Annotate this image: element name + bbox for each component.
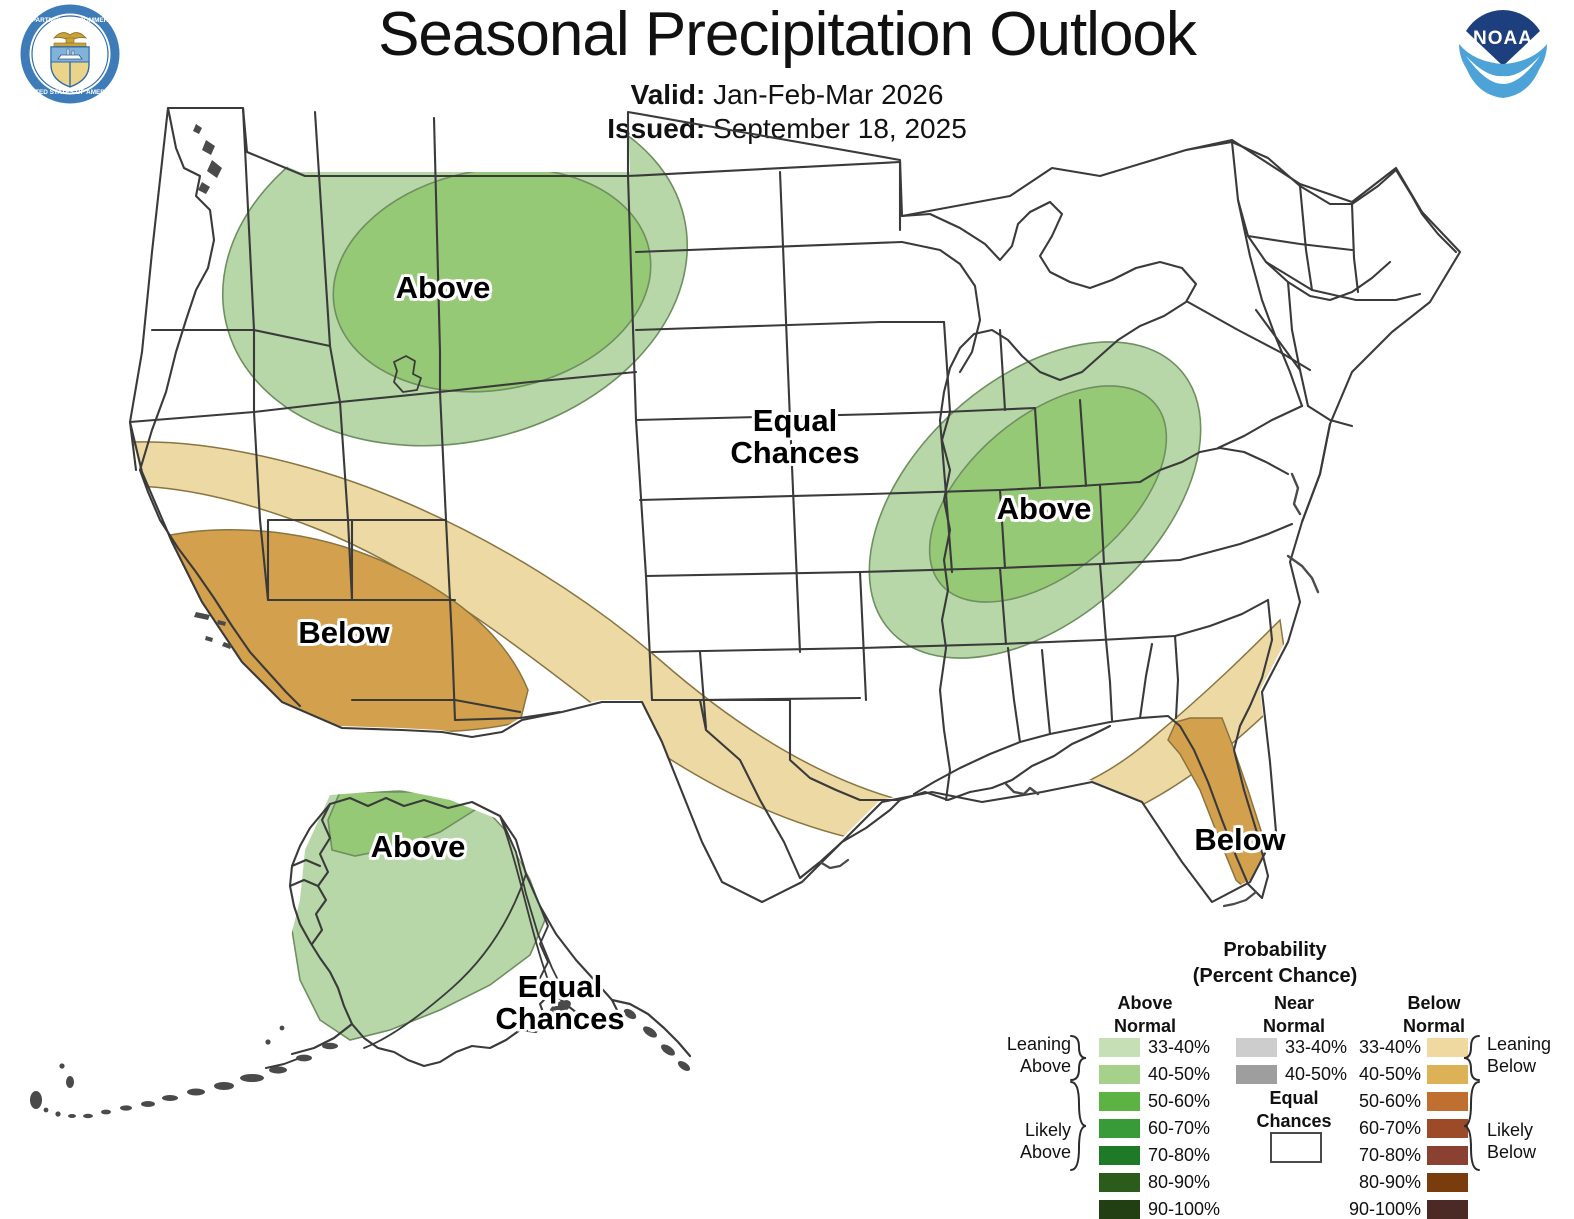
likely-above-l2: Above: [985, 1142, 1071, 1164]
region-florida-below-inner: [1168, 718, 1272, 900]
probability-shading: [128, 50, 1290, 1040]
legend-brace-likely-above: Likely Above: [985, 1120, 1071, 1164]
map-label-northwest-above: Above: [396, 272, 491, 304]
map-label-alaska-equal-chances: Equal Chances: [495, 971, 624, 1034]
map-label-ohio-valley-above: Above: [997, 493, 1092, 525]
above-normal-swatch-80-90: [1099, 1173, 1140, 1192]
leaning-below-l2: Below: [1487, 1056, 1567, 1078]
likely-below-l1: Likely: [1487, 1120, 1567, 1142]
below-normal-label-40-50: 40-50%: [1331, 1065, 1421, 1084]
above-normal-label-90-100: 90-100%: [1148, 1200, 1220, 1219]
near-normal-swatch-40-50: [1236, 1065, 1277, 1084]
above-normal-label-50-60: 50-60%: [1148, 1092, 1210, 1111]
near-head-l2: Normal: [1234, 1015, 1354, 1038]
leaning-below-l1: Leaning: [1487, 1034, 1567, 1056]
below-normal-label-80-90: 80-90%: [1331, 1173, 1421, 1192]
below-normal-swatch-40-50: [1427, 1065, 1468, 1084]
above-normal-label-80-90: 80-90%: [1148, 1173, 1210, 1192]
below-normal-swatch-60-70: [1427, 1119, 1468, 1138]
above-head-l1: Above: [1085, 992, 1205, 1015]
above-normal-label-40-50: 40-50%: [1148, 1065, 1210, 1084]
above-normal-swatch-60-70: [1099, 1119, 1140, 1138]
equal-chances-line2: Chances: [730, 437, 859, 469]
legend-equal-chances-swatch: [1270, 1132, 1322, 1163]
below-normal-swatch-80-90: [1427, 1173, 1468, 1192]
near-normal-swatch-33-40: [1236, 1038, 1277, 1057]
legend-column-header-near: Near Normal: [1234, 992, 1354, 1037]
likely-below-l2: Below: [1487, 1142, 1567, 1164]
ec-label-l1: Equal: [1234, 1087, 1354, 1110]
below-normal-label-33-40: 33-40%: [1331, 1038, 1421, 1057]
legend-brace-leaning-below: Leaning Below: [1487, 1034, 1567, 1078]
above-head-l2: Normal: [1085, 1015, 1205, 1038]
below-head-l2: Normal: [1374, 1015, 1494, 1038]
below-head-l1: Below: [1374, 992, 1494, 1015]
likely-above-l1: Likely: [985, 1120, 1071, 1142]
above-normal-swatch-33-40: [1099, 1038, 1140, 1057]
below-normal-label-70-80: 70-80%: [1331, 1146, 1421, 1165]
leaning-above-l1: Leaning: [985, 1034, 1071, 1056]
legend-title-line2: (Percent Chance): [1115, 964, 1435, 990]
ec-label-l2: Chances: [1234, 1110, 1354, 1133]
below-normal-label-90-100: 90-100%: [1331, 1200, 1421, 1219]
leaning-above-l2: Above: [985, 1056, 1071, 1078]
above-normal-label-33-40: 33-40%: [1148, 1038, 1210, 1057]
legend-title: Probability (Percent Chance): [1115, 938, 1435, 989]
legend: Probability (Percent Chance) Above Norma…: [985, 938, 1565, 1210]
legend-column-header-above: Above Normal: [1085, 992, 1205, 1037]
legend-title-line1: Probability: [1115, 938, 1435, 964]
above-normal-label-70-80: 70-80%: [1148, 1146, 1210, 1165]
legend-brace-likely-below: Likely Below: [1487, 1120, 1567, 1164]
map-label-alaska-above: Above: [371, 831, 466, 863]
above-normal-swatch-40-50: [1099, 1065, 1140, 1084]
map-label-florida-below: Below: [1194, 824, 1285, 856]
equal-chances-line1: Equal: [730, 405, 859, 437]
alaska-equal-chances-line2: Chances: [495, 1003, 624, 1035]
below-normal-swatch-50-60: [1427, 1092, 1468, 1111]
legend-equal-chances-label: Equal Chances: [1234, 1087, 1354, 1132]
above-normal-swatch-70-80: [1099, 1146, 1140, 1165]
below-normal-swatch-33-40: [1427, 1038, 1468, 1057]
above-normal-swatch-50-60: [1099, 1092, 1140, 1111]
map-label-conus-equal-chances: Equal Chances: [730, 405, 859, 468]
alaska-equal-chances-line1: Equal: [495, 971, 624, 1003]
map-label-southwest-below: Below: [298, 617, 389, 649]
below-normal-swatch-90-100: [1427, 1200, 1468, 1219]
above-normal-swatch-90-100: [1099, 1200, 1140, 1219]
legend-brace-leaning-above: Leaning Above: [985, 1034, 1071, 1078]
legend-column-header-below: Below Normal: [1374, 992, 1494, 1037]
near-head-l1: Near: [1234, 992, 1354, 1015]
below-normal-swatch-70-80: [1427, 1146, 1468, 1165]
above-normal-label-60-70: 60-70%: [1148, 1119, 1210, 1138]
